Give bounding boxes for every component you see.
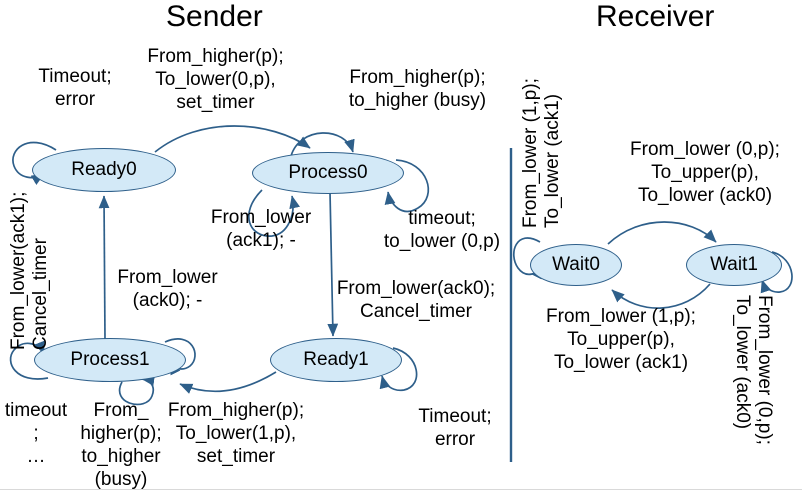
state-ready1[interactable]: Ready1	[270, 338, 402, 382]
label-process0-self-top: From_higher(p); to_higher (busy)	[330, 66, 505, 112]
label-process1-to-ready0-rotated: From_lower(ack1); Cancel_timer	[8, 150, 52, 350]
label-ready0-to-process0: From_higher(p); To_lower(0,p), set_timer	[128, 45, 303, 114]
label-ready1-self-timeout: Timeout; error	[400, 405, 510, 451]
arrow-ready0-to-process0	[155, 126, 310, 152]
label-process0-self-left: From_lower (ack1); -	[196, 206, 326, 252]
state-wait0[interactable]: Wait0	[530, 244, 622, 286]
arrow-wait0-to-wait1	[608, 222, 716, 244]
label-wait0-to-wait1: From_lower (0,p); To_upper(p), To_lower …	[610, 138, 800, 207]
label-wait1-to-wait0: From_lower (1,p); To_upper(p), To_lower …	[526, 305, 716, 374]
state-wait1[interactable]: Wait1	[686, 244, 782, 286]
bottom-divider	[0, 489, 802, 490]
receiver-title: Receiver	[596, 0, 714, 34]
arrow-ready1-to-process1	[180, 372, 276, 391]
sender-title: Sender	[166, 0, 263, 34]
state-process0[interactable]: Process0	[252, 152, 404, 194]
state-process1[interactable]: Process1	[34, 338, 186, 382]
label-wait1-self-rotated: From_lower (0,p); To_lower (ack0)	[731, 295, 775, 485]
label-process0-to-ready1: From_lower(ack0); Cancel_timer	[328, 277, 504, 323]
state-ready0[interactable]: Ready0	[32, 148, 176, 192]
label-process1-self-timeout: timeout ; …	[0, 399, 72, 468]
label-ready0-self-timeout: Timeout; error	[10, 65, 140, 111]
label-process1-to-ready0: From_lower (ack0); -	[100, 266, 235, 312]
label-ready1-to-process1: From_higher(p); To_lower(1,p), set_timer	[148, 399, 324, 468]
label-process0-self-right: timeout; to_lower (0,p)	[368, 207, 516, 253]
label-wait0-self-rotated: From_lower (1,p); To_lower (ack1)	[520, 28, 564, 228]
state-machine-diagram: Sender Receiver Ready0 Process0 Process1…	[0, 0, 802, 501]
